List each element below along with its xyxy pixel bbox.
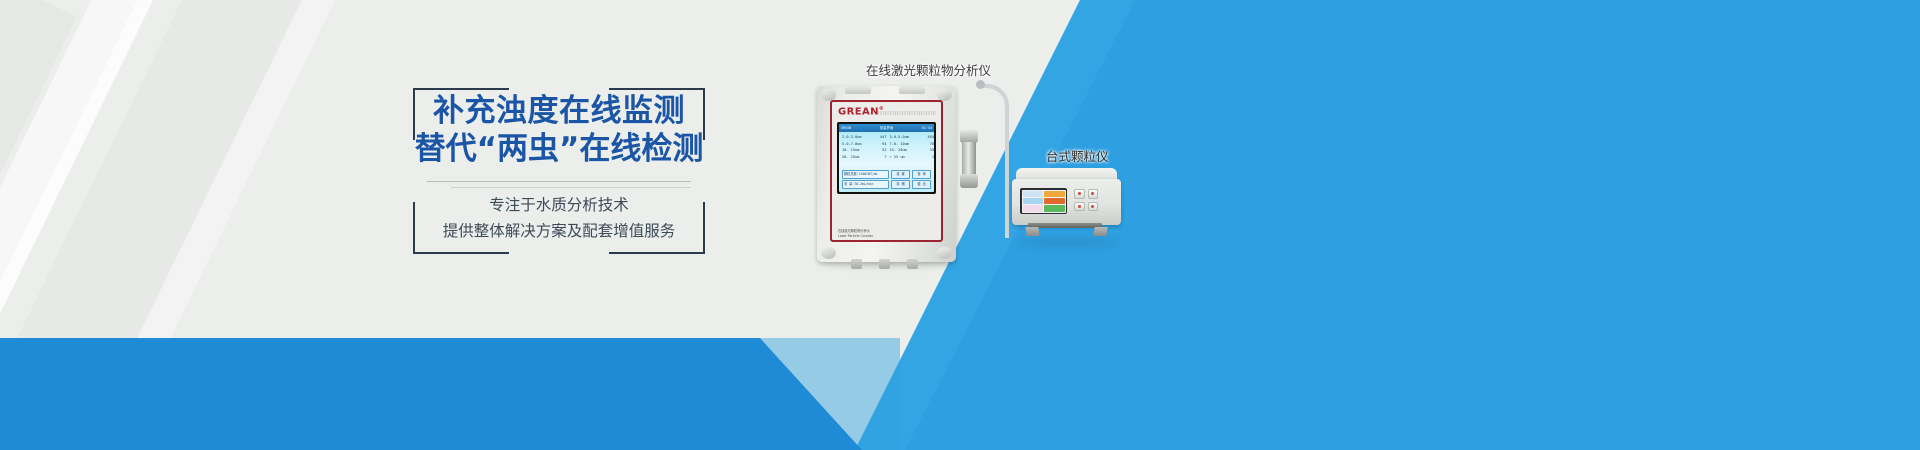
lcd-tile (1044, 198, 1065, 204)
lcd-key[interactable]: 退 出 (912, 180, 931, 189)
promo-banner: 补充浊度在线监测 替代“两虫”在线检测 专注于水质分析技术 提供整体解决方案及配… (0, 0, 1920, 450)
lcd-tile (1044, 205, 1065, 211)
lcd-key[interactable]: 设 置 (891, 170, 910, 179)
cable-gland (851, 259, 862, 269)
keypad-button[interactable] (1074, 202, 1085, 212)
device-caption-en: Laser Particle Counter (838, 234, 873, 238)
range-right: 3.0-5.0um (890, 134, 912, 141)
divider-line-1 (427, 181, 691, 182)
sensor-module (958, 130, 980, 196)
table-row: 10- 15um 52 15- 20um 35 (842, 147, 931, 154)
analyzer-front-panel: GREAN® GREAN 测量界面 01:44 2.0-3.0um 447 3.… (830, 100, 943, 242)
desktop-keypad[interactable] (1074, 189, 1098, 211)
desktop-lcd[interactable] (1022, 190, 1066, 213)
range-left: 5.0-7.0um (842, 141, 864, 148)
divider-line-2 (451, 187, 691, 188)
lcd-tile (1044, 191, 1065, 197)
analyzer-display-bezel: GREAN 测量界面 01:44 2.0-3.0um 447 3.0-5.0um… (837, 122, 936, 194)
analyzer-lcd[interactable]: GREAN 测量界面 01:44 2.0-3.0um 447 3.0-5.0um… (839, 124, 934, 192)
flow-rate-field: 流 量:78.2mL/min (842, 180, 889, 189)
lcd-key[interactable]: 存 储 (891, 180, 910, 189)
total-count-field: 颗粒总数:1166CNT/mL (842, 170, 889, 179)
value-right: 1 (912, 154, 934, 161)
headline-block: 补充浊度在线监测 替代“两虫”在线检测 专注于水质分析技术 提供整体解决方案及配… (413, 88, 705, 254)
lcd-title-bar: GREAN 测量界面 01:44 (839, 124, 934, 132)
analyzer-mount-lug (821, 247, 836, 259)
lcd-control-area: 颗粒总数:1166CNT/mL 设 置 查 询 流 量:78.2mL/min 存… (842, 168, 931, 189)
headline-line-1: 补充浊度在线监测 (395, 92, 723, 130)
sensor-barrel (962, 142, 976, 176)
keypad-button[interactable] (1074, 189, 1085, 199)
range-right: > 25 um (890, 154, 912, 161)
value-right: 76 (912, 141, 934, 148)
panel-hatch-decoration (878, 111, 936, 115)
value-left: 52 (864, 147, 889, 154)
lcd-key[interactable]: 查 询 (912, 170, 931, 179)
subtitle-line-1: 专注于水质分析技术 (413, 192, 705, 218)
subtitle: 专注于水质分析技术 提供整体解决方案及配套增值服务 (413, 192, 705, 244)
device-caption: 在线激光颗粒物分析仪 Laser Particle Counter (838, 229, 873, 238)
particle-count-table: 2.0-3.0um 447 3.0-5.0um 454 5.0-7.0um 94… (839, 132, 934, 160)
cable-gland (907, 259, 918, 269)
value-left: 447 (864, 134, 889, 141)
table-row: 20- 25um 7 > 25 um 1 (842, 154, 931, 161)
desktop-particle-counter (1012, 168, 1121, 242)
lcd-header-right: 01:44 (922, 124, 932, 132)
sensor-bottom-fitting (960, 174, 978, 188)
lcd-tile (1023, 198, 1044, 204)
headline: 补充浊度在线监测 替代“两虫”在线检测 (395, 92, 723, 168)
desktop-foot (1093, 227, 1107, 236)
lcd-header-center: 测量界面 (880, 124, 894, 132)
lcd-header-left: GREAN (841, 124, 851, 132)
lcd-status-row: 颗粒总数:1166CNT/mL 设 置 查 询 (842, 170, 931, 179)
cable-gland (879, 259, 890, 269)
keypad-button[interactable] (1088, 189, 1099, 199)
range-right: 7.0- 10um (890, 141, 912, 148)
table-row: 2.0-3.0um 447 3.0-5.0um 454 (842, 134, 931, 141)
desktop-foot (1025, 227, 1039, 236)
lcd-status-row: 流 量:78.2mL/min 存 储 退 出 (842, 180, 931, 189)
table-row: 5.0-7.0um 94 7.0- 10um 76 (842, 141, 931, 148)
range-left: 20- 25um (842, 154, 864, 161)
keypad-button[interactable] (1088, 202, 1099, 212)
value-right: 454 (912, 134, 934, 141)
value-right: 35 (912, 147, 934, 154)
range-right: 15- 20um (890, 147, 912, 154)
desktop-display-bezel (1020, 188, 1067, 214)
subtitle-line-2: 提供整体解决方案及配套增值服务 (413, 218, 705, 244)
value-left: 7 (864, 154, 889, 161)
range-left: 10- 15um (842, 147, 864, 154)
analyzer-latch (845, 86, 871, 94)
headline-line-2: 替代“两虫”在线检测 (395, 130, 723, 168)
device-caption-cn: 在线激光颗粒物分析仪 (838, 229, 873, 233)
online-laser-particle-analyzer: GREAN® GREAN 测量界面 01:44 2.0-3.0um 447 3.… (817, 86, 956, 262)
desktop-sample-slot (1028, 223, 1102, 228)
lcd-tile (1023, 191, 1044, 197)
value-left: 94 (864, 141, 889, 148)
brand-name: GREAN (838, 106, 879, 117)
tube-downpipe (1005, 178, 1009, 238)
range-left: 2.0-3.0um (842, 134, 864, 141)
tube-cap (976, 80, 985, 89)
divider-group (427, 181, 691, 188)
analyzer-latch (899, 86, 925, 94)
analyzer-mount-lug (937, 247, 952, 259)
lcd-tile (1023, 205, 1044, 211)
